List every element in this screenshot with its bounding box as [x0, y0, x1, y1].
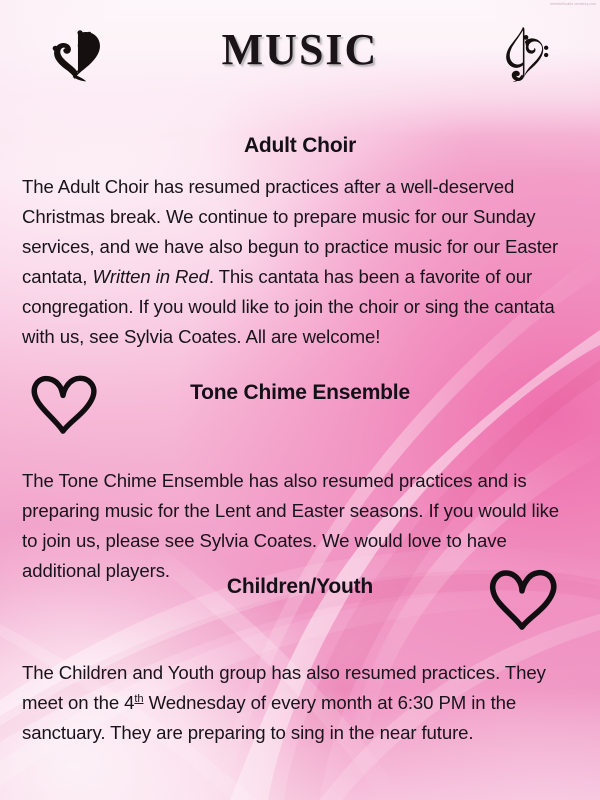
section-body-adult-choir: The Adult Choir has resumed practices af… [22, 172, 582, 352]
treble-bass-clef-heart-icon [495, 22, 557, 88]
music-newsletter-page: hermitefloraltx vecteezy.com MUSIC [0, 0, 600, 800]
page-header: MUSIC [0, 0, 600, 108]
hand-drawn-heart-icon [484, 568, 560, 630]
section-body-children-youth: The Children and Youth group has also re… [22, 658, 574, 748]
cantata-title: Written in Red [92, 266, 208, 287]
section-heading-adult-choir: Adult Choir [0, 134, 600, 158]
ordinal-suffix: th [134, 693, 143, 705]
section-heading-tone-chime-ensemble: Tone Chime Ensemble [0, 381, 600, 405]
